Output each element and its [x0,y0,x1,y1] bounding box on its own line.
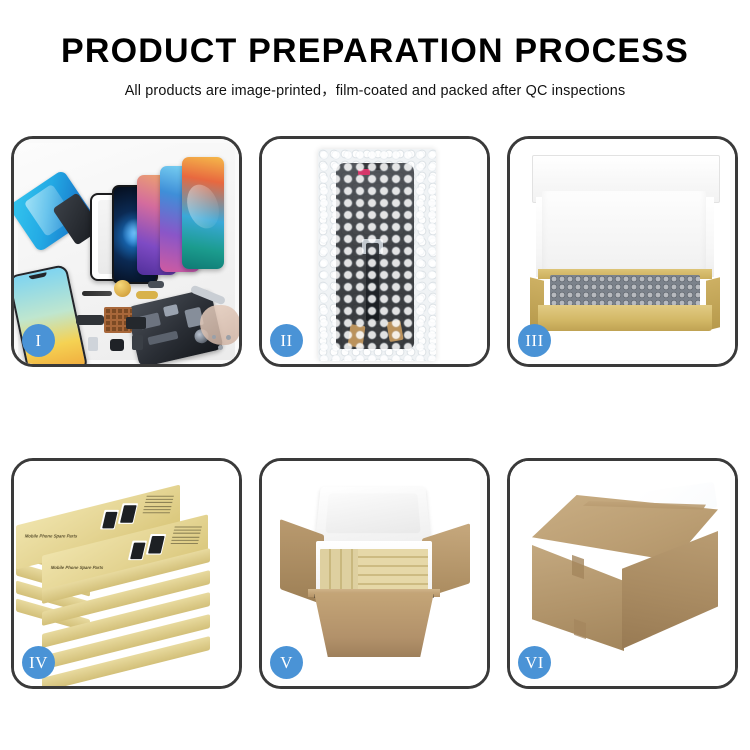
step-card-5: V [259,458,490,689]
step-badge-4: IV [22,646,55,679]
step-card-4: Mobile Phone Spare Parts Mobile Phone Sp… [11,458,242,689]
box-label-text: Mobile Phone Spare Parts [24,534,78,539]
box-phone-image [146,534,166,555]
page-header: PRODUCT PREPARATION PROCESS All products… [0,34,750,100]
step-card-6: VI [507,458,738,689]
tray-front-panel [538,305,712,331]
small-module-part [126,317,146,329]
flex-cable-part [76,315,104,325]
box-label-text: Mobile Phone Spare Parts [50,565,104,570]
box-spec-lines [142,496,174,516]
gold-boxes-inside [358,549,428,593]
carton-seam [574,619,586,639]
carton-seam [572,555,584,579]
box-phone-image [118,503,138,524]
step-card-2: II [259,136,490,367]
product-preparation-page: PRODUCT PREPARATION PROCESS All products… [0,0,750,750]
gold-coil-part [114,280,131,297]
screw-part [226,335,231,340]
foam-wall [542,191,706,277]
box-phone-image [100,510,119,530]
process-steps-grid: I II [11,136,739,689]
tan-tape-piece [348,324,366,348]
speaker-part [148,281,164,288]
carton-front-panel [306,593,442,657]
step-badge-5: V [270,646,303,679]
box-phone-image [128,541,147,561]
flex-cable [366,243,379,321]
display-teal-wallpaper [182,157,224,269]
foam-lid [315,487,431,543]
hand [200,305,239,345]
pink-label-tab [358,169,370,175]
earpiece-mesh-part [82,291,112,296]
screw-part [218,345,223,350]
gold-flex-part [136,291,158,299]
chip [147,331,178,346]
page-title: PRODUCT PREPARATION PROCESS [0,34,750,70]
bubble-wrapped-contents [550,275,700,309]
step-card-3: III [507,136,738,367]
step-badge-1: I [22,324,55,357]
box-spec-lines [170,526,202,546]
button-part [88,337,98,351]
battery-part [132,335,143,350]
step-badge-3: III [518,324,551,357]
page-subtitle: All products are image-printed，film-coat… [0,79,750,100]
step-card-1: I [11,136,242,367]
screw-part [212,335,216,339]
camera-module-part [110,339,124,351]
step-badge-6: VI [518,646,551,679]
chip [163,304,179,317]
step-badge-2: II [270,324,303,357]
